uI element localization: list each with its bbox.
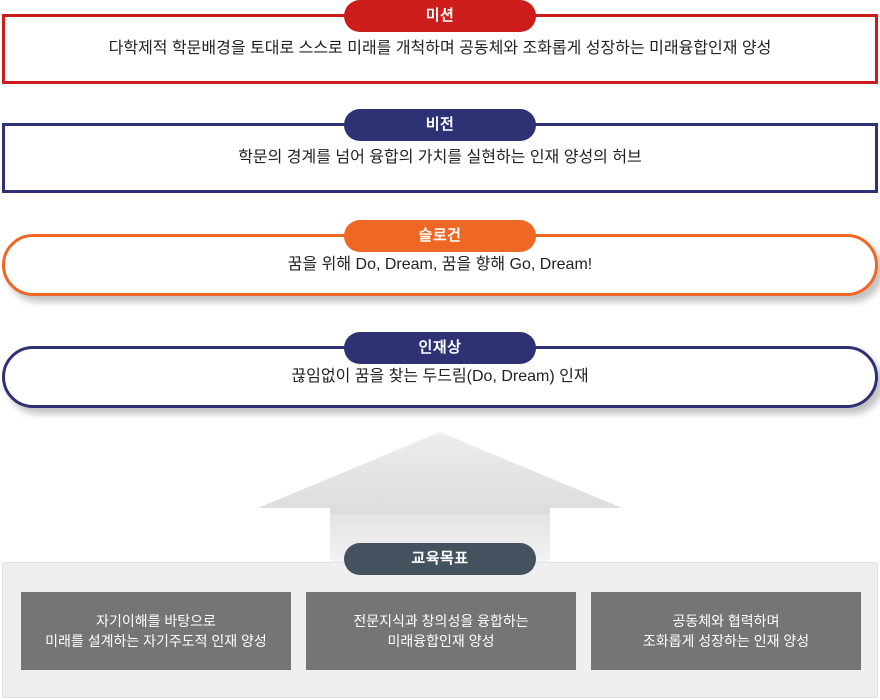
goal-box-3: 공동체와 협력하며 조화롭게 성장하는 인재 양성 xyxy=(591,592,861,670)
vision-text: 학문의 경계를 넘어 융합의 가치를 실현하는 인재 양성의 허브 xyxy=(220,148,660,169)
talent-profile-badge: 인재상 xyxy=(344,332,536,364)
talent-profile-text: 끊임없이 꿈을 찾는 두드림(Do, Dream) 인재 xyxy=(273,367,606,388)
education-goals-row: 자기이해를 바탕으로 미래를 설계하는 자기주도적 인재 양성 전문지식과 창의… xyxy=(3,563,879,699)
goal-box-2-line2: 미래융합인재 양성 xyxy=(353,631,528,651)
slogan-badge: 슬로건 xyxy=(344,220,536,252)
goal-box-1-line2: 미래를 설계하는 자기주도적 인재 양성 xyxy=(45,631,267,651)
education-goals-panel: 자기이해를 바탕으로 미래를 설계하는 자기주도적 인재 양성 전문지식과 창의… xyxy=(2,562,878,698)
goal-box-1-text: 자기이해를 바탕으로 미래를 설계하는 자기주도적 인재 양성 xyxy=(45,611,267,652)
goal-box-1: 자기이해를 바탕으로 미래를 설계하는 자기주도적 인재 양성 xyxy=(21,592,291,670)
goal-box-1-line1: 자기이해를 바탕으로 xyxy=(45,611,267,631)
mission-vision-diagram: 다학제적 학문배경을 토대로 스스로 미래를 개척하며 공동체와 조화롭게 성장… xyxy=(0,0,880,700)
goal-box-2: 전문지식과 창의성을 융합하는 미래융합인재 양성 xyxy=(306,592,576,670)
education-goals-badge: 교육목표 xyxy=(344,543,536,575)
vision-badge: 비전 xyxy=(344,109,536,141)
mission-text: 다학제적 학문배경을 토대로 스스로 미래를 개척하며 공동체와 조화롭게 성장… xyxy=(91,39,790,60)
goal-box-2-line1: 전문지식과 창의성을 융합하는 xyxy=(353,611,528,631)
goal-box-3-text: 공동체와 협력하며 조화롭게 성장하는 인재 양성 xyxy=(643,611,809,652)
mission-badge: 미션 xyxy=(344,0,536,32)
goal-box-2-text: 전문지식과 창의성을 융합하는 미래융합인재 양성 xyxy=(353,611,528,652)
goal-box-3-line1: 공동체와 협력하며 xyxy=(643,611,809,631)
goal-box-3-line2: 조화롭게 성장하는 인재 양성 xyxy=(643,631,809,651)
slogan-text: 꿈을 위해 Do, Dream, 꿈을 향해 Go, Dream! xyxy=(270,255,610,276)
